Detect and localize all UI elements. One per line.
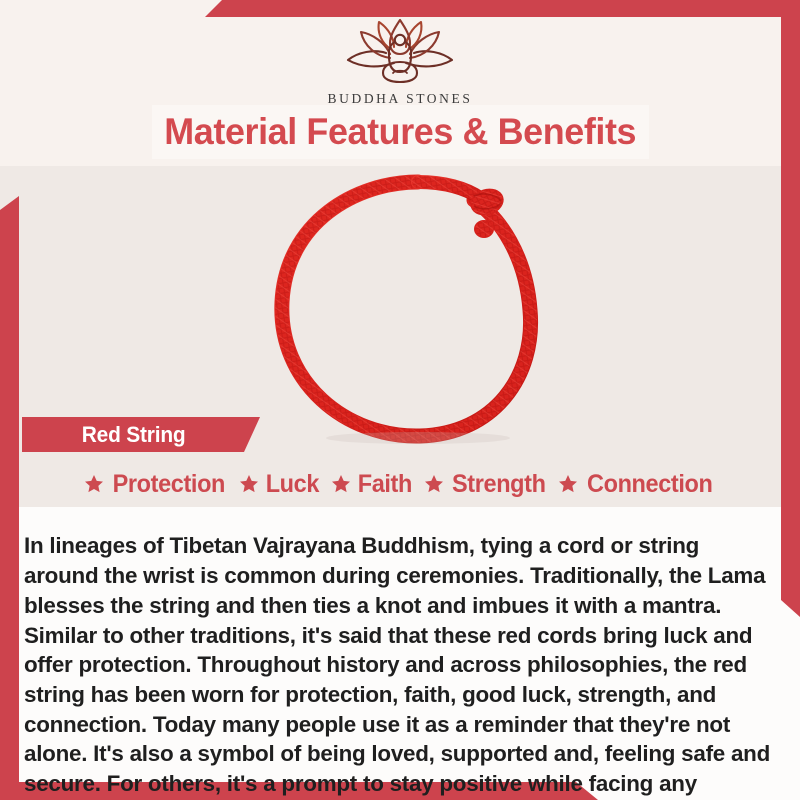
feature-item-faith: Faith — [330, 470, 414, 499]
page-title: Material Features & Benefits — [165, 111, 637, 153]
feature-label-luck: Luck — [266, 470, 319, 499]
description-paragraph: In lineages of Tibetan Vajrayana Buddhis… — [24, 531, 772, 800]
feature-label-strength: Strength — [451, 470, 545, 499]
title-banner: Material Features & Benefits — [152, 105, 649, 159]
brand-logo: BUDDHA STONES — [0, 16, 800, 107]
feature-item-luck: Luck — [238, 470, 321, 499]
star-icon — [557, 473, 579, 495]
star-icon — [423, 473, 445, 495]
material-label: Red String — [82, 422, 186, 448]
feature-item-connection: Connection — [557, 470, 717, 499]
star-icon — [238, 473, 260, 495]
star-icon — [330, 473, 352, 495]
star-icon — [83, 473, 105, 495]
feature-label-protection: Protection — [113, 470, 225, 499]
material-label-banner: Red String — [22, 417, 260, 452]
feature-list: Protection Luck Faith Strength Connectio… — [0, 466, 800, 502]
product-image-area — [0, 166, 800, 448]
red-string-bracelet-image — [268, 170, 568, 448]
lotus-meditation-figure-icon — [332, 16, 468, 88]
feature-item-protection: Protection — [83, 470, 229, 499]
material-features-infographic: BUDDHA STONES Material Features & Benefi… — [0, 0, 800, 800]
feature-label-faith: Faith — [358, 470, 412, 499]
feature-item-strength: Strength — [423, 470, 549, 499]
feature-label-connection: Connection — [587, 470, 712, 499]
